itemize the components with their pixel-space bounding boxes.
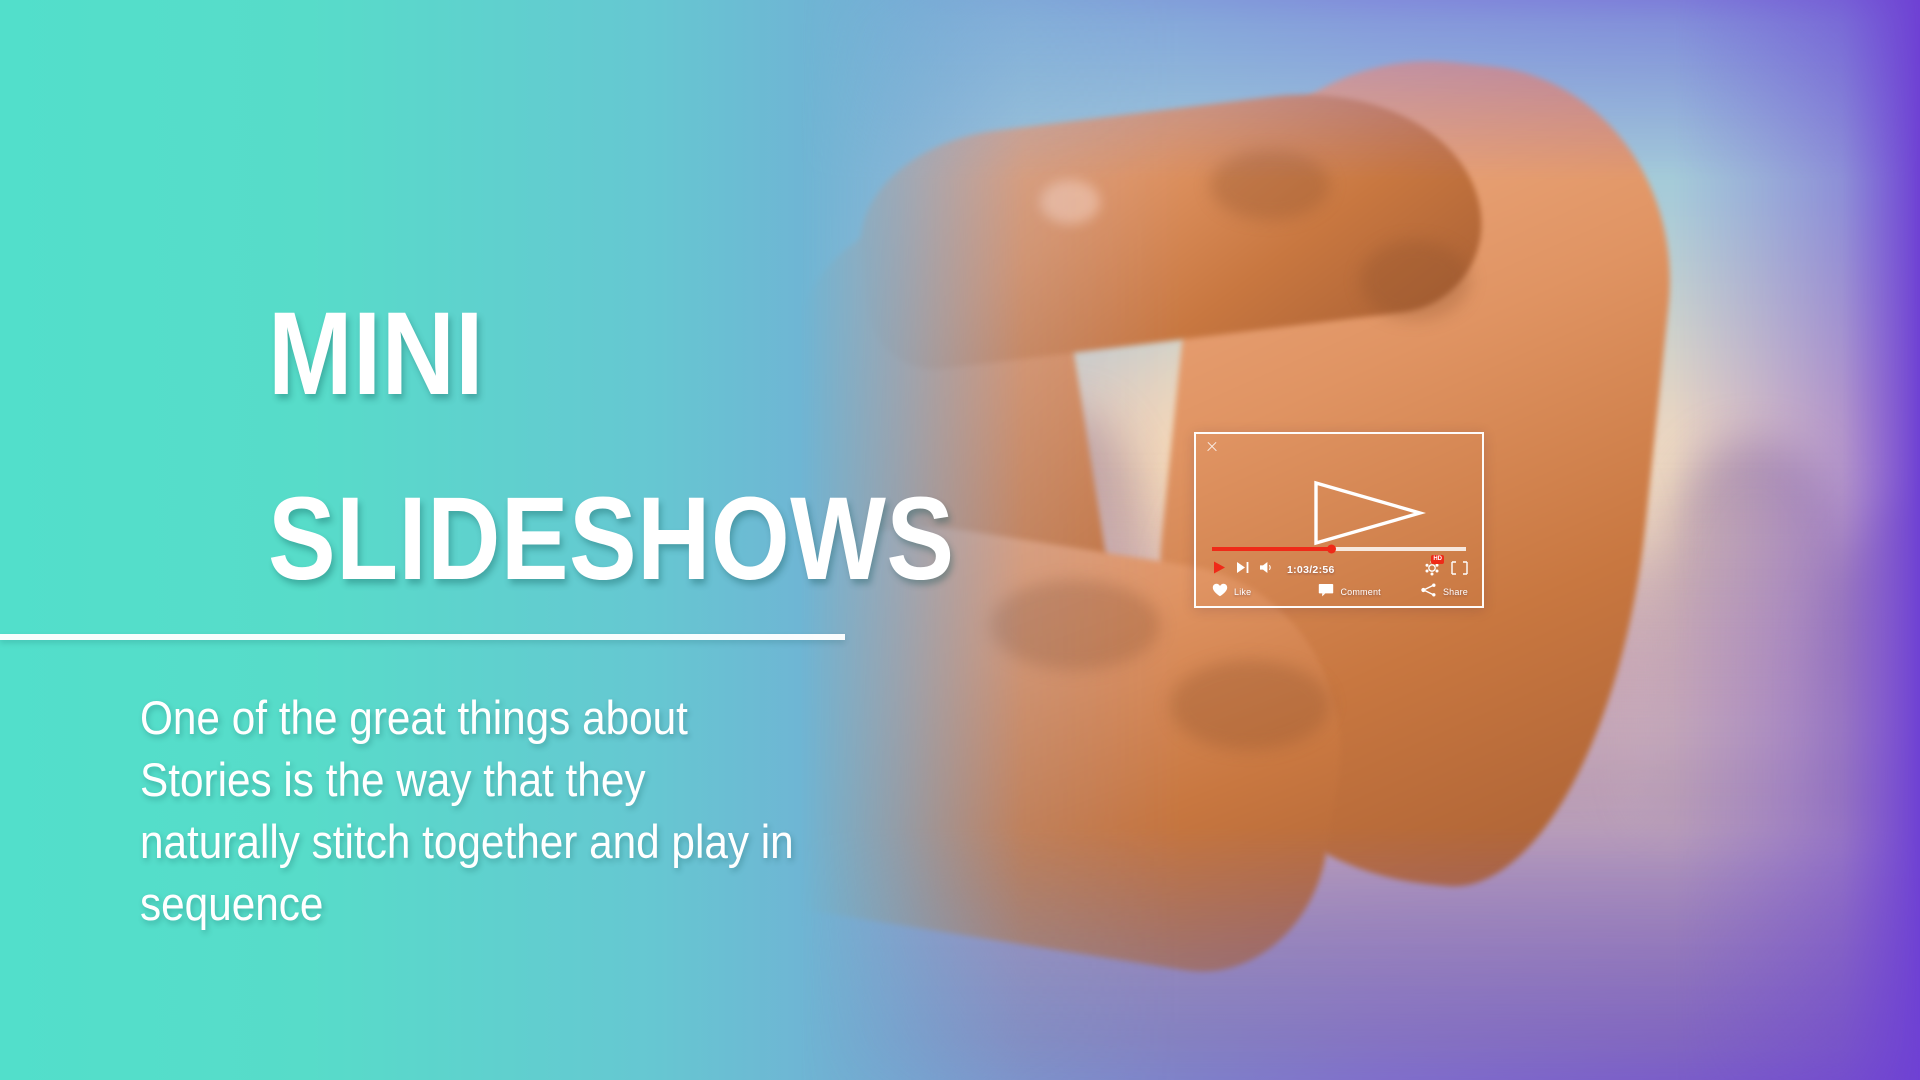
body-paragraph: One of the great things about Stories is…: [140, 687, 806, 935]
next-track-icon[interactable]: [1236, 561, 1250, 579]
knuckle-shadow: [1170, 660, 1330, 750]
comment-button[interactable]: Comment: [1318, 583, 1421, 602]
title-divider: [0, 634, 845, 640]
heart-icon: [1212, 583, 1228, 602]
knuckle-shadow: [990, 580, 1160, 670]
slide-canvas: MINI SLIDESHOWS One of the great things …: [0, 0, 1920, 1080]
progress-knob[interactable]: [1327, 545, 1336, 554]
page-title: MINI SLIDESHOWS: [268, 300, 801, 593]
share-label: Share: [1443, 587, 1468, 597]
timecode: 1:03/2:56: [1287, 564, 1335, 576]
knuckle-shadow: [1210, 150, 1330, 220]
comment-label: Comment: [1340, 587, 1380, 597]
progress-fill: [1212, 547, 1331, 551]
knuckle-shadow: [1360, 240, 1470, 320]
volume-icon[interactable]: [1259, 561, 1274, 579]
headline-line-1: MINI: [268, 288, 484, 420]
share-button[interactable]: Share: [1421, 583, 1468, 602]
headline-line-2: SLIDESHOWS: [268, 485, 801, 594]
like-label: Like: [1234, 587, 1251, 597]
video-player[interactable]: 1:03/2:56 HD: [1194, 432, 1484, 608]
copy-column: MINI SLIDESHOWS One of the great things …: [0, 0, 900, 1080]
player-controls: 1:03/2:56 HD: [1212, 558, 1468, 582]
play-icon[interactable]: [1212, 560, 1227, 580]
like-button[interactable]: Like: [1212, 583, 1318, 602]
settings-gear-icon[interactable]: HD: [1424, 560, 1440, 581]
hd-badge: HD: [1431, 555, 1444, 564]
comment-bubble-icon: [1318, 583, 1334, 602]
fingernail: [1040, 180, 1100, 224]
play-button-large[interactable]: [1310, 479, 1368, 547]
close-icon[interactable]: [1206, 441, 1218, 453]
social-actions: Like Comment: [1212, 582, 1468, 602]
share-nodes-icon: [1421, 583, 1437, 602]
fullscreen-icon[interactable]: [1451, 561, 1468, 580]
progress-bar[interactable]: [1212, 547, 1466, 551]
